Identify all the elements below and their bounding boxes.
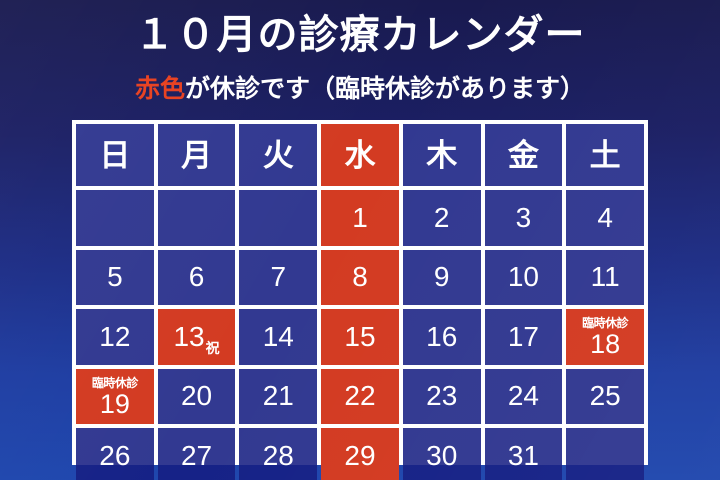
- calendar-day-cell[interactable]: 26: [76, 428, 154, 480]
- day-number: 25: [590, 382, 621, 410]
- calendar-cell-empty: [158, 190, 236, 246]
- day-number: 18: [590, 331, 620, 358]
- calendar-day-cell[interactable]: 5: [76, 250, 154, 306]
- weekday-header-0: 日: [76, 124, 154, 186]
- day-number: 7: [270, 263, 286, 291]
- day-number: 4: [597, 204, 613, 232]
- calendar-day-cell[interactable]: 27: [158, 428, 236, 480]
- day-number: 26: [99, 442, 130, 470]
- calendar-day-cell[interactable]: 1: [321, 190, 399, 246]
- day-number: 1: [352, 204, 368, 232]
- day-number: 2: [434, 204, 450, 232]
- day-number: 19: [100, 391, 130, 418]
- calendar-day-cell[interactable]: 24: [485, 369, 563, 425]
- weekday-header-label: 金: [508, 140, 539, 171]
- calendar-day-cell[interactable]: 10: [485, 250, 563, 306]
- page-subtitle: 赤色が休診です（臨時休診があります）: [0, 73, 720, 105]
- day-number: 8: [352, 263, 368, 291]
- weekday-header-2: 火: [239, 124, 317, 186]
- calendar-day-cell[interactable]: 23: [403, 369, 481, 425]
- calendar-cell-empty: [566, 428, 644, 480]
- subtitle-accent-text: 赤色: [135, 75, 185, 103]
- calendar-day-cell[interactable]: 17: [485, 309, 563, 365]
- subtitle-rest-text: が休診です（臨時休診があります）: [185, 75, 585, 103]
- page-title: １０月の診療カレンダー: [0, 8, 720, 62]
- day-number: 13: [173, 323, 204, 351]
- day-number: 15: [344, 323, 375, 351]
- calendar-day-cell[interactable]: 9: [403, 250, 481, 306]
- calendar-day-cell[interactable]: 25: [566, 369, 644, 425]
- weekday-header-label: 木: [426, 140, 457, 171]
- day-number: 12: [99, 323, 130, 351]
- holiday-mark: 祝: [205, 341, 220, 355]
- day-number: 17: [508, 323, 539, 351]
- day-number: 23: [426, 382, 457, 410]
- day-number: 16: [426, 323, 457, 351]
- calendar-day-cell[interactable]: 28: [239, 428, 317, 480]
- weekday-header-label: 日: [99, 140, 130, 171]
- day-number: 9: [434, 263, 450, 291]
- calendar-day-cell[interactable]: 22: [321, 369, 399, 425]
- day-number: 30: [426, 442, 457, 470]
- weekday-header-4: 木: [403, 124, 481, 186]
- calendar-cell-empty: [239, 190, 317, 246]
- weekday-header-3: 水: [321, 124, 399, 186]
- calendar-day-cell[interactable]: 7: [239, 250, 317, 306]
- calendar-grid: 日月火水木金土12345678910111213祝14151617臨時休診18臨…: [72, 120, 648, 465]
- weekday-header-label: 火: [263, 140, 294, 171]
- day-number: 11: [591, 263, 620, 291]
- calendar-day-cell[interactable]: 2: [403, 190, 481, 246]
- day-number: 24: [508, 382, 539, 410]
- calendar-day-cell[interactable]: 29: [321, 428, 399, 480]
- day-number: 14: [263, 323, 294, 351]
- day-number: 31: [508, 442, 539, 470]
- calendar-day-cell[interactable]: 13祝: [158, 309, 236, 365]
- calendar-day-cell[interactable]: 16: [403, 309, 481, 365]
- calendar-day-cell[interactable]: 3: [485, 190, 563, 246]
- calendar-day-cell[interactable]: 30: [403, 428, 481, 480]
- day-number: 28: [263, 442, 294, 470]
- day-number: 5: [107, 263, 123, 291]
- calendar-day-cell[interactable]: 31: [485, 428, 563, 480]
- calendar-day-cell[interactable]: 21: [239, 369, 317, 425]
- calendar-day-cell[interactable]: 8: [321, 250, 399, 306]
- day-number: 21: [263, 382, 294, 410]
- calendar-cell-empty: [76, 190, 154, 246]
- day-number: 3: [516, 204, 532, 232]
- calendar-day-cell[interactable]: 15: [321, 309, 399, 365]
- calendar-day-cell[interactable]: 12: [76, 309, 154, 365]
- calendar-day-cell[interactable]: 臨時休診18: [566, 309, 644, 365]
- day-number-group: 13祝: [173, 323, 219, 351]
- day-number: 27: [181, 442, 212, 470]
- temporary-closure-note: 臨時休診: [92, 377, 138, 390]
- calendar-day-cell[interactable]: 11: [566, 250, 644, 306]
- calendar-day-cell[interactable]: 20: [158, 369, 236, 425]
- calendar-day-cell[interactable]: 14: [239, 309, 317, 365]
- weekday-header-6: 土: [566, 124, 644, 186]
- calendar-day-cell[interactable]: 臨時休診19: [76, 369, 154, 425]
- weekday-header-label: 土: [590, 140, 621, 171]
- calendar-screen: １０月の診療カレンダー 赤色が休診です（臨時休診があります） 日月火水木金土12…: [0, 0, 720, 480]
- day-number: 20: [181, 382, 212, 410]
- weekday-header-1: 月: [158, 124, 236, 186]
- calendar-day-cell[interactable]: 4: [566, 190, 644, 246]
- day-number: 29: [344, 442, 375, 470]
- day-number: 6: [189, 263, 205, 291]
- day-number: 22: [344, 382, 375, 410]
- calendar-day-cell[interactable]: 6: [158, 250, 236, 306]
- weekday-header-5: 金: [485, 124, 563, 186]
- weekday-header-label: 月: [181, 140, 212, 171]
- weekday-header-label: 水: [344, 140, 375, 171]
- day-number: 10: [508, 263, 539, 291]
